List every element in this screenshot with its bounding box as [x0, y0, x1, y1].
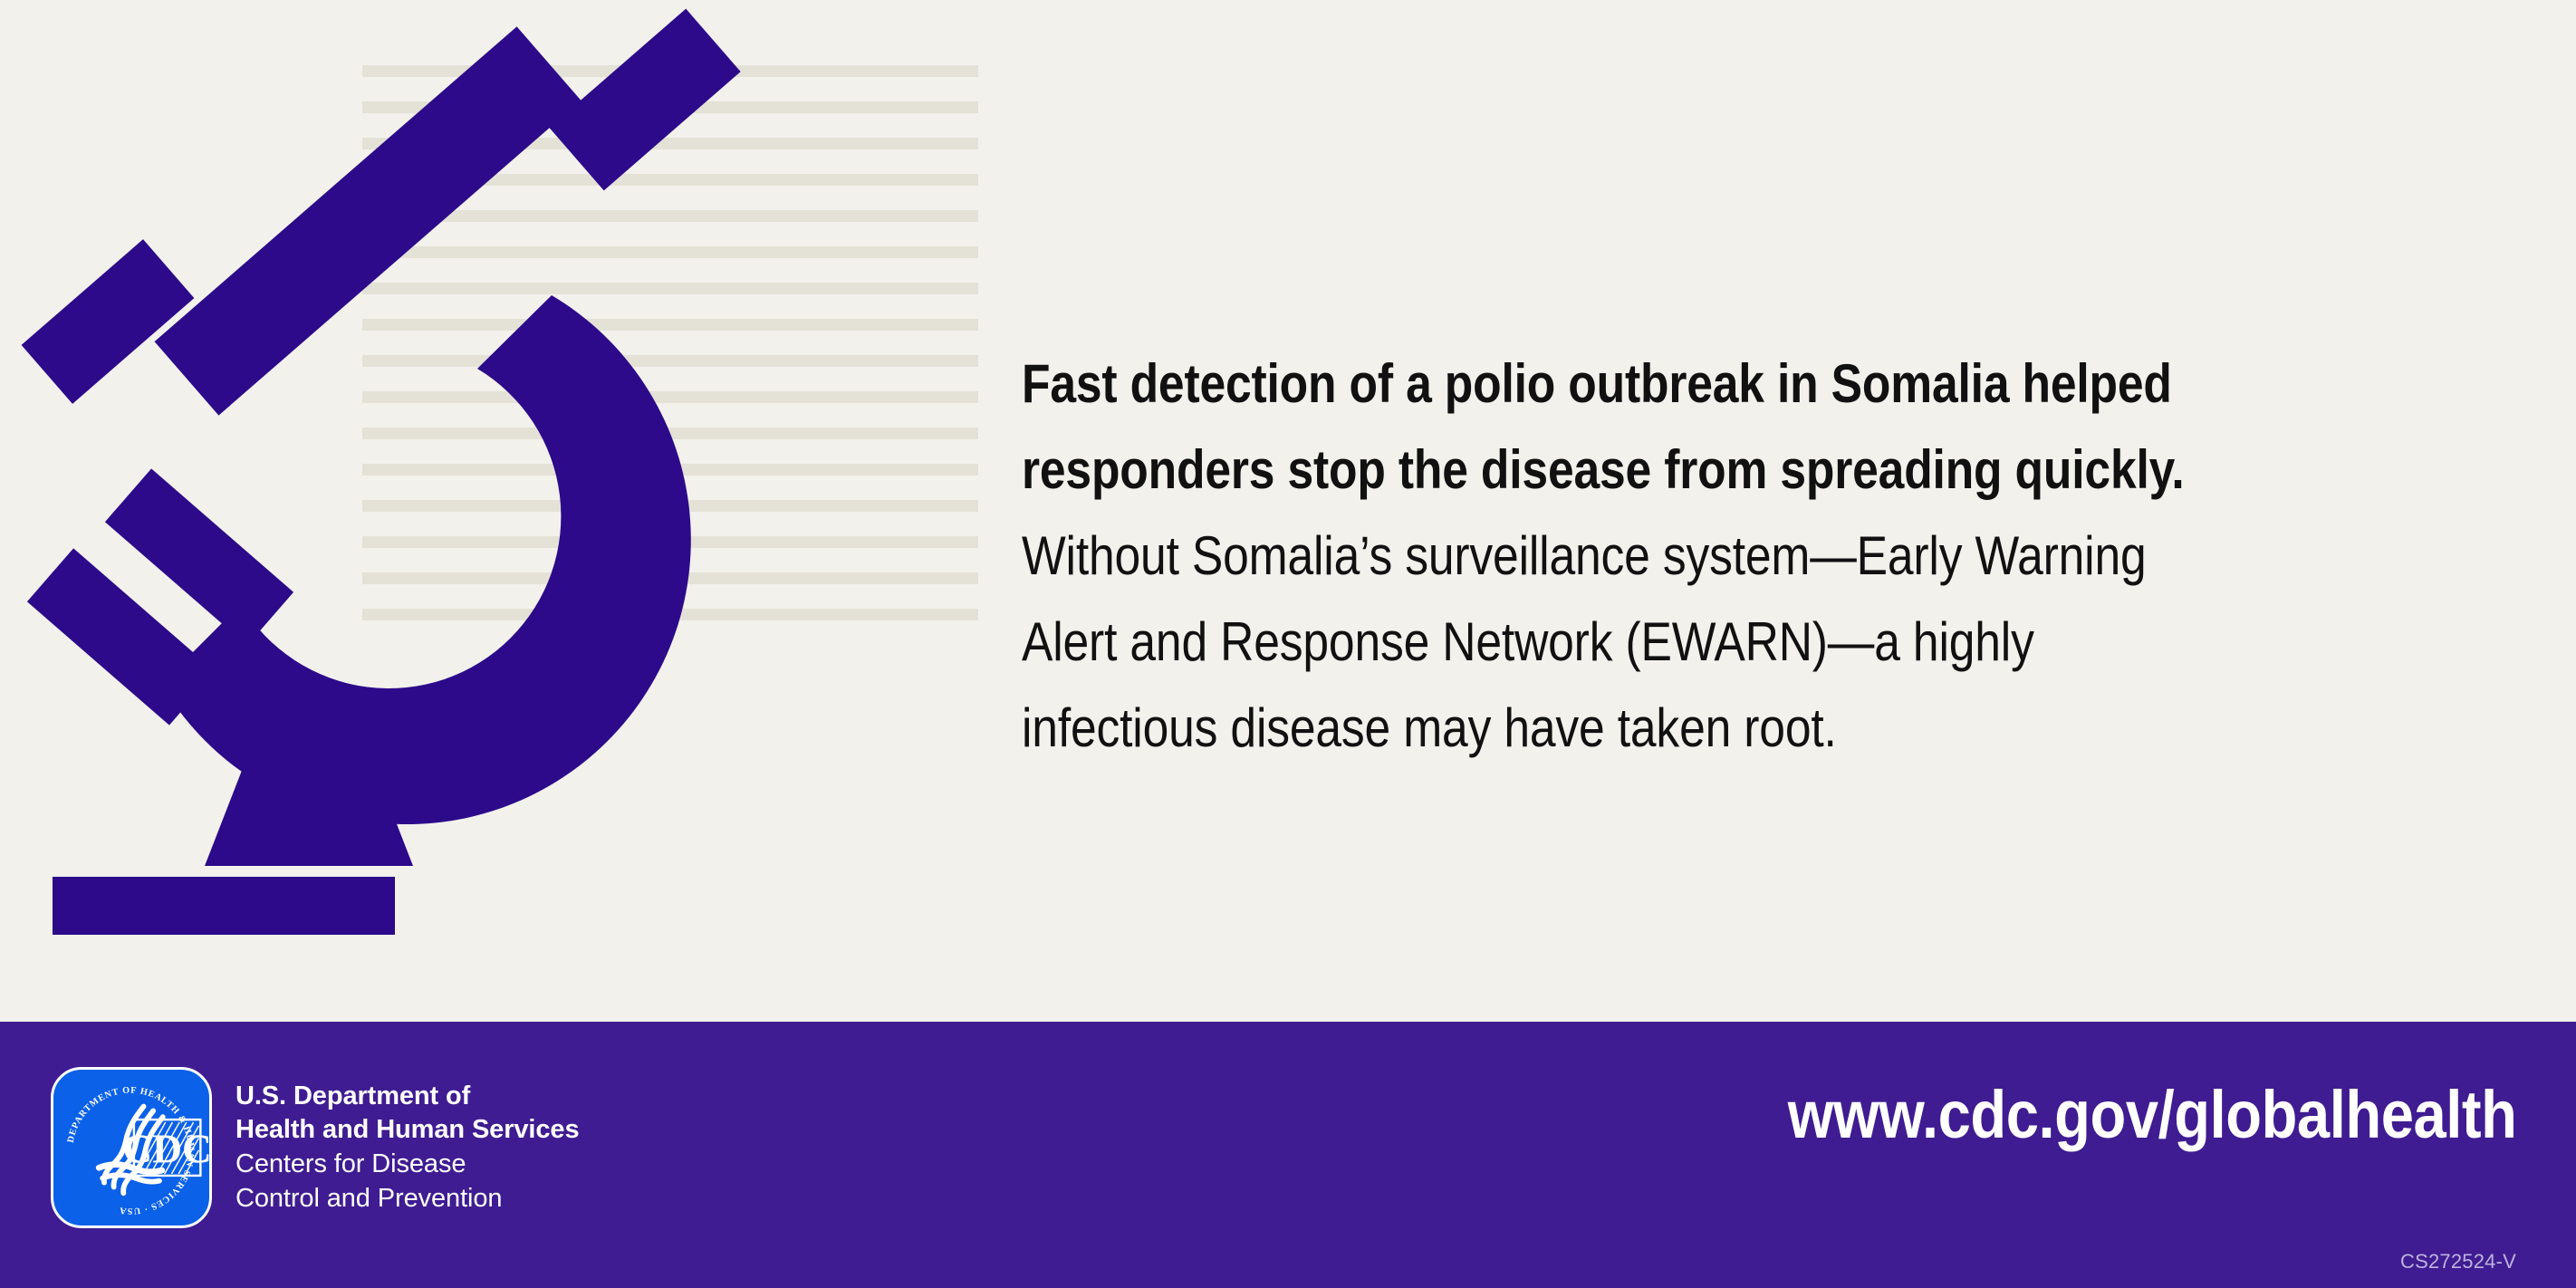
- cdc-mark-text: CDC: [122, 1126, 209, 1171]
- hhs-logo-tile: DEPARTMENT OF HEALTH & HUMAN SERVICES · …: [51, 1067, 212, 1228]
- hhs-cdc-logo-lockup[interactable]: DEPARTMENT OF HEALTH & HUMAN SERVICES · …: [51, 1067, 579, 1228]
- agency-line-3: Centers for Disease: [235, 1148, 579, 1182]
- footer-bar: DEPARTMENT OF HEALTH & HUMAN SERVICES · …: [0, 1022, 2576, 1288]
- agency-line-2: Health and Human Services: [235, 1113, 579, 1148]
- agency-name-block: U.S. Department of Health and Human Serv…: [235, 1080, 579, 1216]
- microscope-illustration: [0, 0, 1014, 1024]
- cdc-mark: CDC: [122, 1120, 209, 1176]
- website-url[interactable]: www.cdc.gov/globalhealth: [1787, 1076, 2516, 1153]
- agency-line-4: Control and Prevention: [235, 1182, 579, 1216]
- body-line-3: infectious disease may have taken root.: [1022, 685, 2283, 771]
- message-copy-block: Fast detection of a polio outbreak in So…: [1022, 341, 2489, 771]
- body-line-1: Without Somalia’s surveillance system—Ea…: [1022, 513, 2283, 599]
- agency-line-1: U.S. Department of: [235, 1080, 579, 1114]
- body-line-2: Alert and Response Network (EWARN)—a hig…: [1022, 599, 2283, 685]
- headline-line-1: Fast detection of a polio outbreak in So…: [1022, 341, 2283, 427]
- headline-line-2: responders stop the disease from spreadi…: [1022, 427, 2283, 513]
- cdc-infographic-poster: Fast detection of a polio outbreak in So…: [0, 0, 2576, 1288]
- publication-code: CS272524-V: [2400, 1250, 2516, 1274]
